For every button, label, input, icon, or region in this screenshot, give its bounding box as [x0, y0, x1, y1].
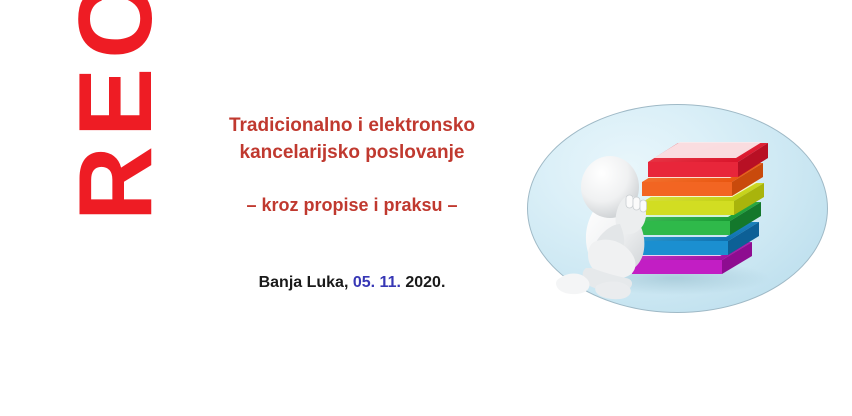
rec-logo-text: REC — [64, 0, 168, 221]
rec-logo: REC — [56, 0, 176, 208]
title-line-1: Tradicionalno i elektronsko — [196, 112, 508, 139]
illustration-artwork — [516, 92, 840, 326]
date-line: Banja Luka, 05. 11. 2020. — [196, 274, 508, 292]
date-year: 2020. — [405, 274, 445, 291]
slide-canvas: REC Tradicionalno i elektronsko kancelar… — [0, 0, 852, 416]
illustration-sitting-figure-with-books — [516, 92, 840, 326]
date-place: Banja Luka, — [259, 274, 349, 291]
subtitle: – kroz propise i praksu – — [196, 192, 508, 218]
date-day-month: 05. 11. — [353, 274, 401, 291]
title-line-2: kancelarijsko poslovanje — [196, 139, 508, 166]
title-block: Tradicionalno i elektronsko kancelarijsk… — [196, 112, 508, 218]
